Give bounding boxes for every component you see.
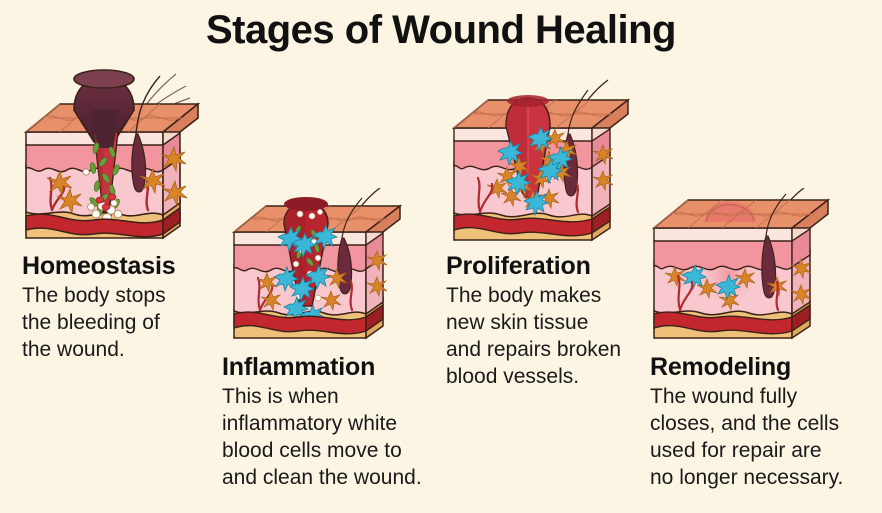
stage-description-inflammation: This is when inflammatory white blood ce… bbox=[222, 383, 447, 491]
stage-description-remodeling: The wound fully closes, and the cells us… bbox=[650, 383, 875, 491]
stage-text-remodeling: Remodeling The wound fully closes, and t… bbox=[650, 353, 875, 491]
stage-description-homeostasis: The body stops the bleeding of the wound… bbox=[22, 282, 222, 363]
stage-text-proliferation: Proliferation The body makes new skin ti… bbox=[446, 252, 651, 390]
infographic-canvas: Stages of Wound Healing bbox=[0, 0, 882, 513]
stage-title-inflammation: Inflammation bbox=[222, 353, 447, 381]
skin-cross-section-proliferation bbox=[442, 78, 637, 258]
page-title: Stages of Wound Healing bbox=[0, 8, 882, 53]
stage-text-inflammation: Inflammation This is when inflammatory w… bbox=[222, 353, 447, 491]
skin-cross-section-homeostasis bbox=[8, 52, 213, 257]
skin-cross-section-inflammation bbox=[224, 188, 409, 353]
stage-description-proliferation: The body makes new skin tissue and repai… bbox=[446, 282, 651, 390]
stage-text-homeostasis: Homeostasis The body stops the bleeding … bbox=[22, 252, 222, 363]
stage-title-proliferation: Proliferation bbox=[446, 252, 651, 280]
skin-cross-section-remodeling bbox=[642, 188, 837, 353]
stage-title-remodeling: Remodeling bbox=[650, 353, 875, 381]
stage-title-homeostasis: Homeostasis bbox=[22, 252, 222, 280]
epidermis-band bbox=[654, 228, 792, 241]
